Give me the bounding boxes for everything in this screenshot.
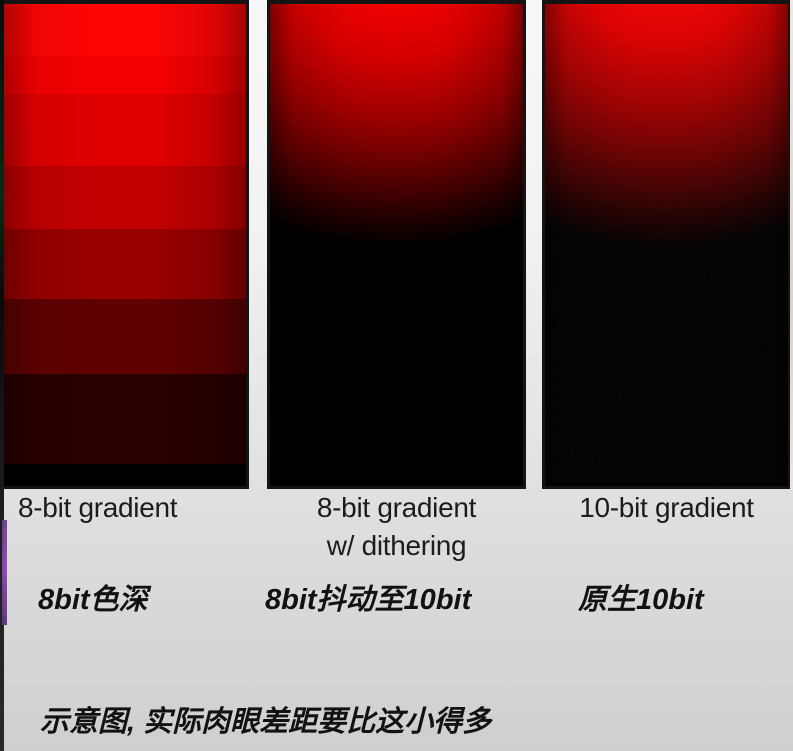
caption-en-8bit-line1: 8-bit gradient	[18, 492, 177, 523]
caption-en-10bit: 10-bit gradient	[540, 489, 793, 527]
english-caption-row: 8-bit gradient 8-bit gradient w/ ditheri…	[0, 489, 793, 571]
swatch-10bit-surface	[545, 4, 788, 486]
edge-shading-overlay	[270, 4, 523, 486]
caption-en-dither-line1: 8-bit gradient	[317, 492, 476, 523]
caption-en-8bit: 8-bit gradient	[18, 489, 177, 527]
caption-en-dither: 8-bit gradient w/ dithering	[267, 489, 526, 565]
caption-cn-10bit: 原生10bit	[578, 578, 704, 622]
swatch-dither-surface	[270, 4, 523, 486]
left-edge-violet-artifact	[2, 520, 7, 625]
caption-en-dither-line2: w/ dithering	[267, 527, 526, 565]
swatch-8bit-dithered-gradient	[267, 0, 526, 489]
edge-shading-overlay	[3, 4, 246, 486]
left-edge-artifact	[0, 0, 4, 751]
gradient-comparison-strip	[0, 0, 793, 489]
chinese-caption-row: 8bit色深 8bit抖动至10bit 原生10bit	[0, 578, 793, 626]
caption-cn-dither: 8bit抖动至10bit	[265, 578, 471, 622]
caption-cn-8bit: 8bit色深	[38, 578, 148, 622]
caption-en-10bit-line1: 10-bit gradient	[579, 492, 754, 523]
swatch-8bit-surface	[3, 4, 246, 486]
edge-shading-overlay	[545, 4, 788, 486]
footnote-text: 示意图, 实际肉眼差距要比这小得多	[40, 698, 491, 740]
swatch-10bit-gradient	[542, 0, 790, 489]
swatch-8bit-gradient	[3, 0, 249, 489]
